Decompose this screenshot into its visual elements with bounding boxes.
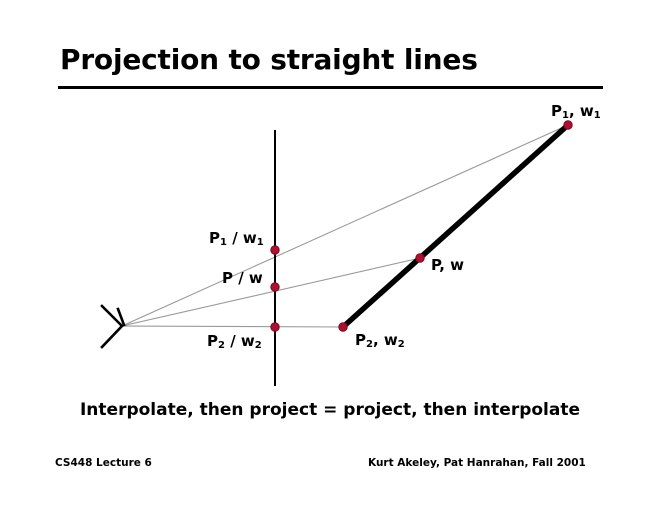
label-p1-over-w1: P1 / w1 (209, 231, 264, 246)
projection-diagram (0, 0, 660, 510)
point-P-over-w-icon (271, 283, 279, 291)
ray-to-P2-icon (122, 326, 343, 327)
projection-rays (122, 125, 568, 327)
point-P1-icon (564, 121, 572, 129)
point-P1-over-w1-icon (271, 246, 279, 254)
slide: Projection to straight lines (0, 0, 660, 510)
label-p-over-w: P / w (222, 271, 263, 286)
label-p1-w1: P1, w1 (551, 104, 601, 119)
label-p2-over-w2: P2 / w2 (207, 334, 262, 349)
label-p2-w2: P2, w2 (355, 333, 405, 348)
footer-course: CS448 Lecture 6 (55, 457, 152, 469)
point-P2-over-w2-icon (271, 323, 279, 331)
point-P-icon (416, 254, 424, 262)
point-P2-icon (339, 323, 347, 331)
label-p-w: P, w (431, 258, 464, 273)
sample-points (271, 121, 572, 331)
eye-viewpoint-icon (102, 306, 124, 347)
slide-caption: Interpolate, then project = project, the… (0, 400, 660, 420)
ray-to-P-icon (122, 258, 420, 326)
footer-authors: Kurt Akeley, Pat Hanrahan, Fall 2001 (368, 457, 586, 469)
ray-to-P1-icon (122, 125, 568, 326)
world-line-segment-icon (343, 125, 568, 327)
